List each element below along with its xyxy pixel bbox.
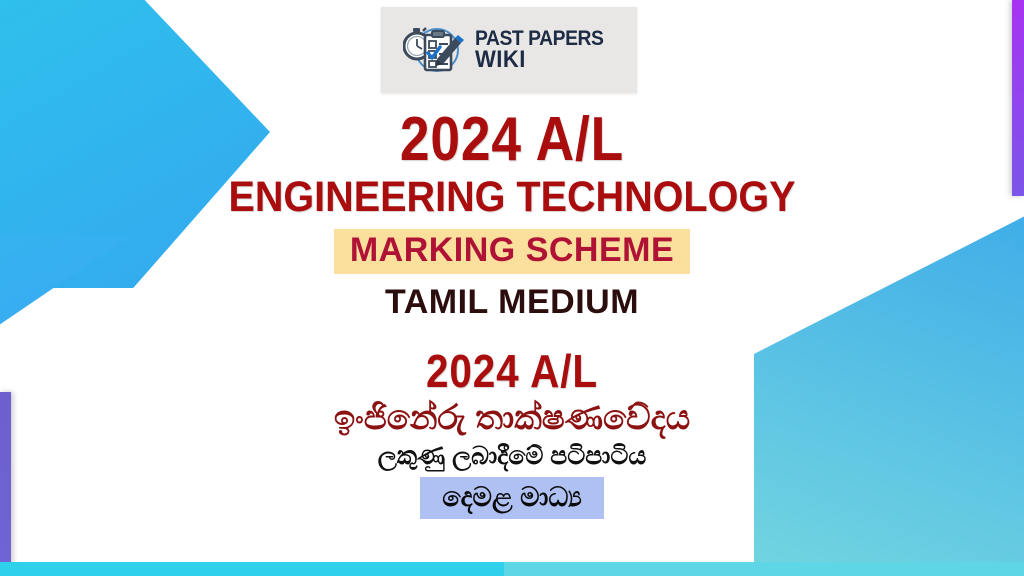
- heading-document-type-english: MARKING SCHEME: [334, 229, 690, 274]
- bottom-right-cyan-bar-decoration: [504, 562, 1024, 576]
- heading-year-primary: 2024 A/L: [72, 108, 953, 171]
- site-logo-card: PAST PAPERS WIKI: [381, 7, 637, 93]
- heading-year-secondary: 2024 A/L: [61, 347, 962, 395]
- stopwatch-clipboard-pen-icon: [403, 22, 467, 78]
- heading-subject-english: ENGINEERING TECHNOLOGY: [41, 175, 983, 220]
- heading-medium-english: TAMIL MEDIUM: [0, 284, 1024, 321]
- heading-document-type-sinhala: ලකුණු ලබාදීමේ පටිපාටිය: [0, 441, 1024, 471]
- poster-text-block: 2024 A/L ENGINEERING TECHNOLOGY MARKING …: [0, 100, 1024, 519]
- logo-text-wiki: WIKI: [475, 49, 603, 72]
- heading-medium-sinhala: දෙමළ මාධ්‍ය: [420, 477, 604, 519]
- logo-wordmark: PAST PAPERS WIKI: [475, 29, 615, 71]
- poster-canvas: PAST PAPERS WIKI 2024 A/L ENGINEERING TE…: [0, 0, 1024, 576]
- medium-sinhala-row: දෙමළ මාධ්‍ය: [0, 477, 1024, 519]
- document-type-english-row: MARKING SCHEME: [0, 229, 1024, 274]
- heading-subject-sinhala: ඉංජිනේරු තාක්ෂණවේදය: [0, 398, 1024, 438]
